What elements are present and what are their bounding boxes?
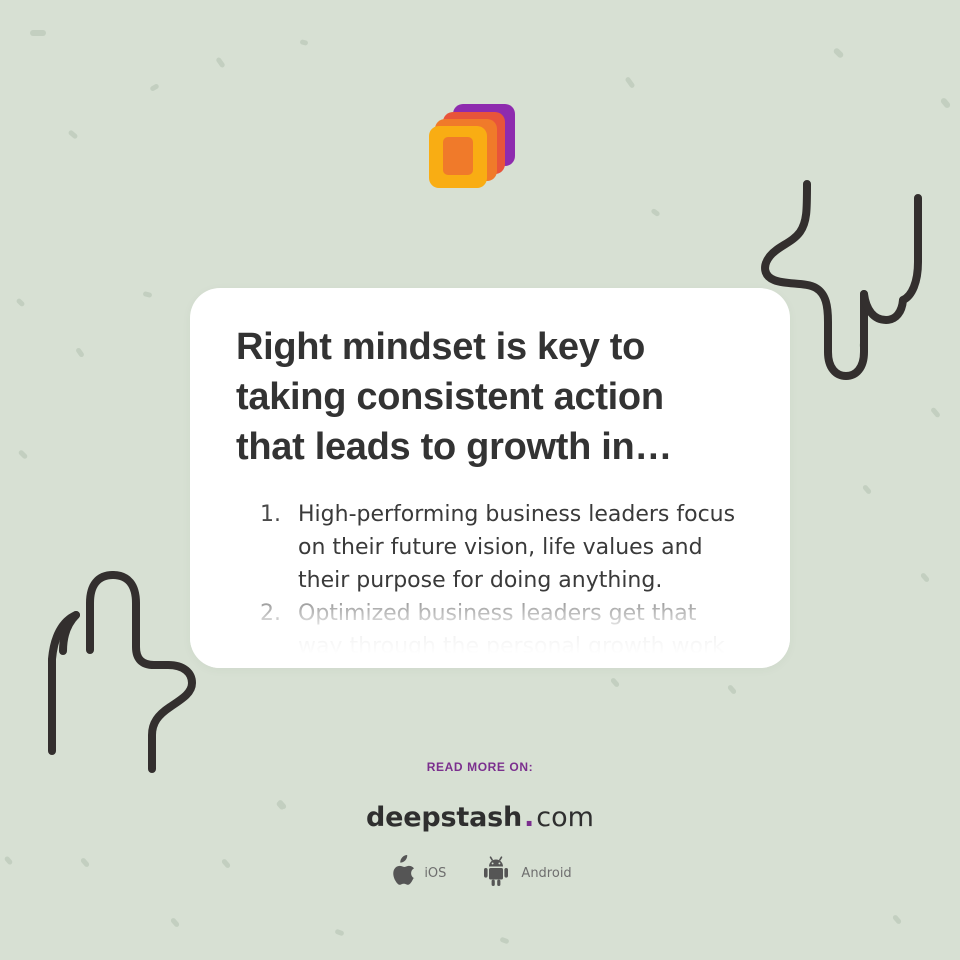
confetti-dash — [499, 937, 509, 945]
android-store-link[interactable]: Android — [480, 855, 571, 892]
confetti-dash — [299, 39, 308, 46]
confetti-dash — [30, 30, 46, 36]
confetti-dash — [16, 298, 26, 308]
ios-label: iOS — [424, 866, 446, 881]
idea-card-content: Right mindset is key to taking consisten… — [190, 288, 790, 668]
idea-card[interactable]: Right mindset is key to taking consisten… — [190, 288, 790, 668]
brand-tld: com — [536, 802, 594, 833]
android-icon — [480, 855, 512, 892]
confetti-dash — [215, 57, 225, 69]
poster-canvas: Right mindset is key to taking consisten… — [0, 0, 960, 960]
brand-wordmark[interactable]: deepstash.com — [0, 802, 960, 833]
app-store-badges: iOS — [0, 855, 960, 892]
confetti-dash — [75, 347, 85, 358]
brand-dot: . — [522, 802, 536, 833]
confetti-dash — [143, 291, 153, 298]
confetti-dash — [832, 47, 844, 59]
confetti-dash — [149, 83, 159, 92]
idea-list-item: High-performing business leaders focus o… — [260, 498, 744, 597]
apple-icon — [388, 855, 415, 892]
read-more-label: READ MORE ON: — [0, 760, 960, 774]
confetti-dash — [858, 342, 869, 354]
ios-store-link[interactable]: iOS — [388, 855, 446, 892]
confetti-dash — [170, 917, 180, 928]
confetti-dash — [68, 129, 79, 139]
confetti-dash — [920, 572, 930, 583]
confetti-dash — [892, 914, 902, 925]
brand-name: deepstash — [366, 802, 522, 833]
confetti-dash — [625, 76, 636, 89]
android-label: Android — [521, 866, 571, 881]
page-title: Right mindset is key to taking consisten… — [236, 322, 736, 472]
deepstash-logo — [425, 100, 525, 200]
confetti-dash — [862, 484, 872, 495]
confetti-dash — [334, 929, 344, 937]
confetti-dash — [610, 677, 620, 688]
idea-list-item: Optimized business leaders get that way … — [260, 597, 744, 668]
confetti-dash — [930, 407, 941, 419]
footer: READ MORE ON: deepstash.com iOS — [0, 760, 960, 892]
idea-list: High-performing business leaders focus o… — [236, 498, 744, 668]
confetti-dash — [18, 449, 29, 460]
pointing-hand-up-left-icon — [18, 555, 218, 790]
confetti-dash — [650, 208, 660, 217]
confetti-dash — [727, 684, 737, 695]
confetti-dash — [940, 97, 952, 109]
